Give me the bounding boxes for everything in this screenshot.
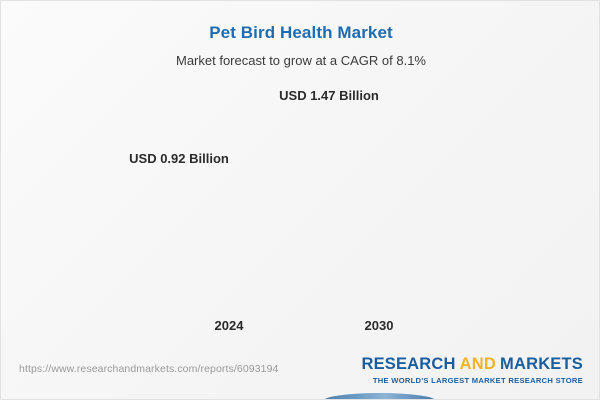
- category-label-2030: 2030: [279, 318, 479, 333]
- chart-subtitle: Market forecast to grow at a CAGR of 8.1…: [1, 53, 600, 68]
- page-title: Pet Bird Health Market: [1, 23, 600, 43]
- logo-word-markets: MARKETS: [500, 355, 583, 373]
- logo-word-and: AND: [460, 355, 496, 373]
- source-url-link[interactable]: https://www.researchandmarkets.com/repor…: [19, 363, 278, 375]
- footer: https://www.researchandmarkets.com/repor…: [1, 349, 600, 399]
- logo-tagline: THE WORLD'S LARGEST MARKET RESEARCH STOR…: [361, 376, 583, 385]
- logo-word-research: RESEARCH: [361, 355, 455, 373]
- research-and-markets-logo[interactable]: RESEARCHANDMARKETS THE WORLD'S LARGEST M…: [361, 355, 583, 385]
- logo-wordmark: RESEARCHANDMARKETS: [361, 355, 583, 374]
- value-label-2024: USD 0.92 Billion: [79, 151, 279, 166]
- value-label-2030: USD 1.47 Billion: [229, 88, 429, 103]
- chart-infographic: Pet Bird Health Market Market forecast t…: [0, 0, 600, 400]
- chart-plot-area: USD 0.92 Billion 2024 USD 1.47 Billion: [1, 81, 600, 351]
